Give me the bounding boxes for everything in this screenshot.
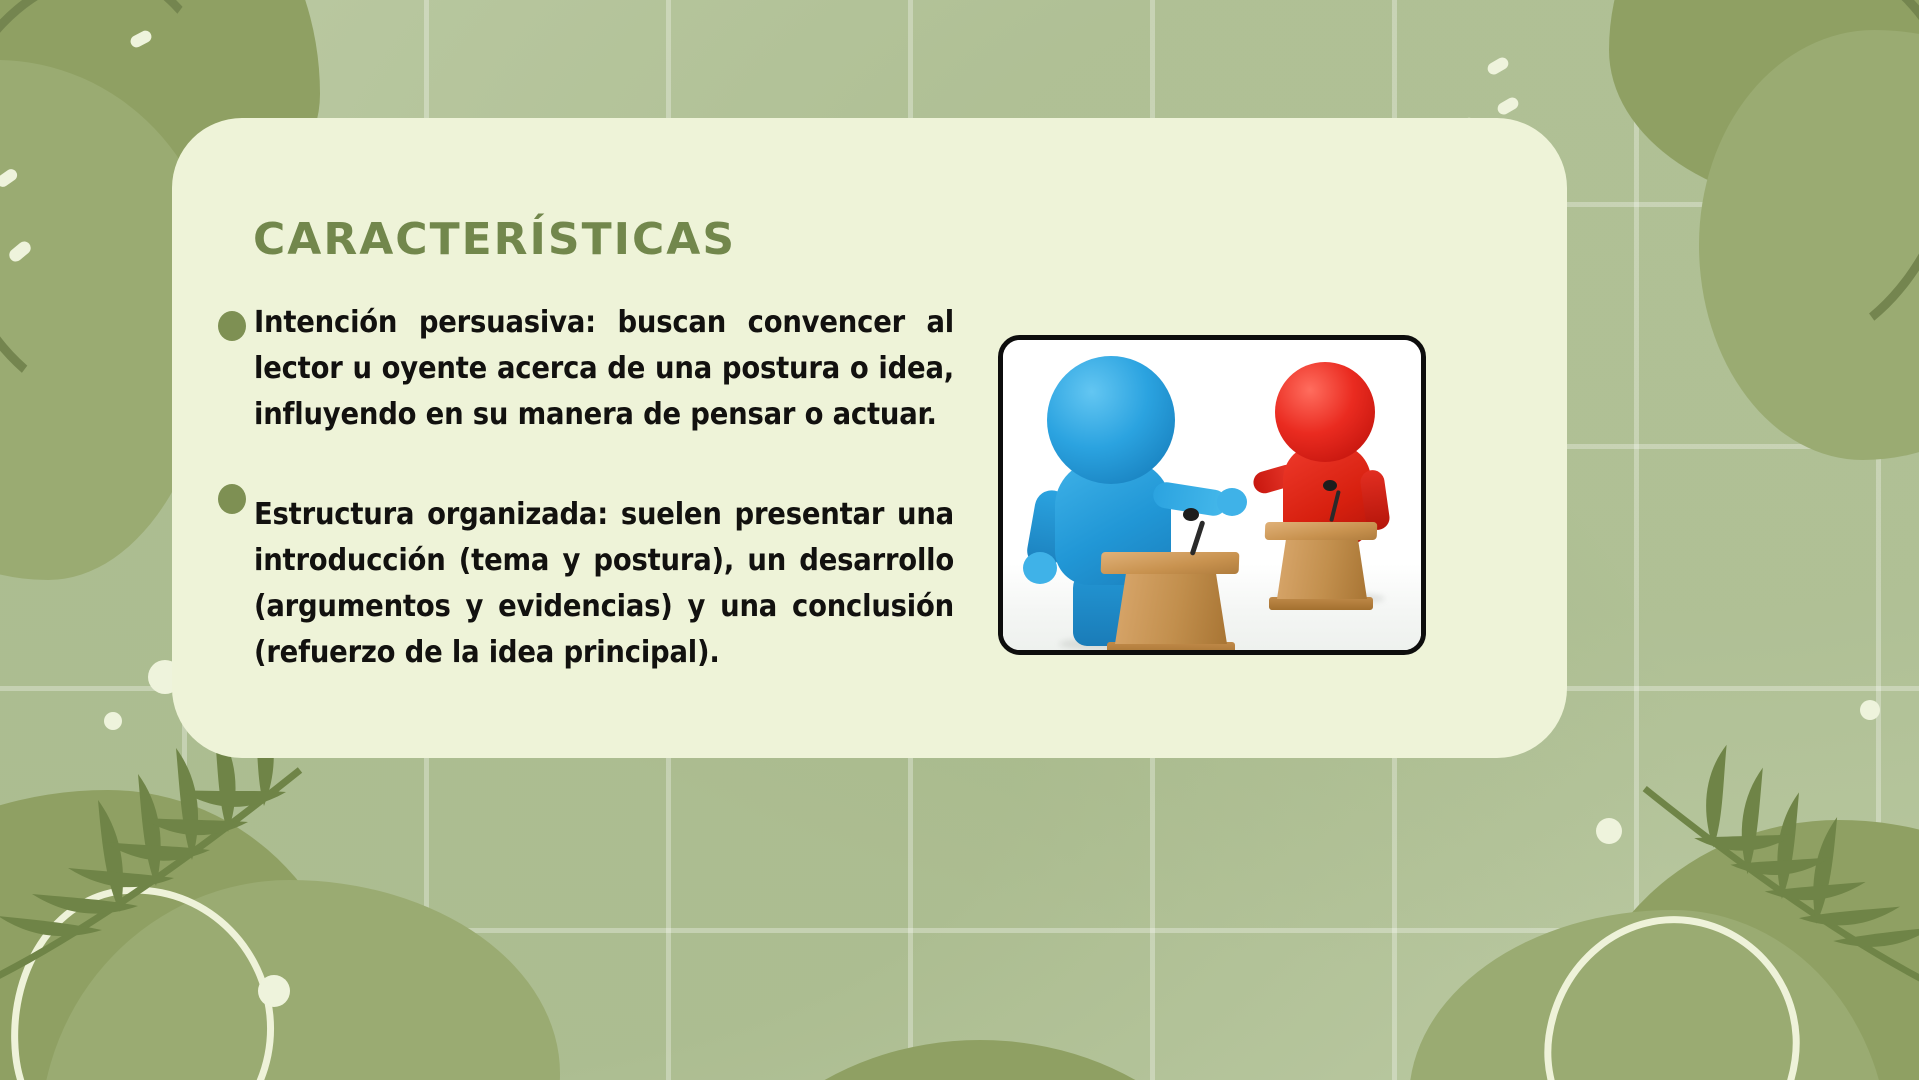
page-title: Características — [253, 196, 736, 269]
fern-leaf-bottom-right — [1559, 700, 1919, 1020]
slide-canvas: Características Intención persuasiva: bu… — [0, 0, 1919, 1080]
blue-microphone-head — [1183, 508, 1199, 521]
red-microphone-head — [1323, 480, 1337, 491]
bullet-text-1: Intención persuasiva: buscan convencer a… — [254, 300, 954, 438]
blue-figure-head — [1047, 356, 1175, 484]
bullet-text-2: Estructura organizada: suelen presentar … — [254, 492, 954, 676]
red-figure-head — [1275, 362, 1375, 462]
blue-figure-hand-left — [1023, 552, 1057, 584]
blue-microphone-stem — [1190, 520, 1206, 556]
bullet-list: Intención persuasiva: buscan convencer a… — [254, 300, 954, 676]
image-scene — [1003, 340, 1421, 650]
image-panel-debate — [998, 335, 1426, 655]
blue-figure-hand-right — [1217, 488, 1247, 516]
blue-podium-top — [1101, 552, 1240, 574]
blue-podium-body — [1115, 572, 1227, 644]
red-podium-top — [1265, 522, 1378, 540]
bullet-marker-1 — [218, 311, 246, 341]
bullet-marker-2 — [218, 484, 246, 514]
red-podium-body — [1277, 539, 1367, 599]
